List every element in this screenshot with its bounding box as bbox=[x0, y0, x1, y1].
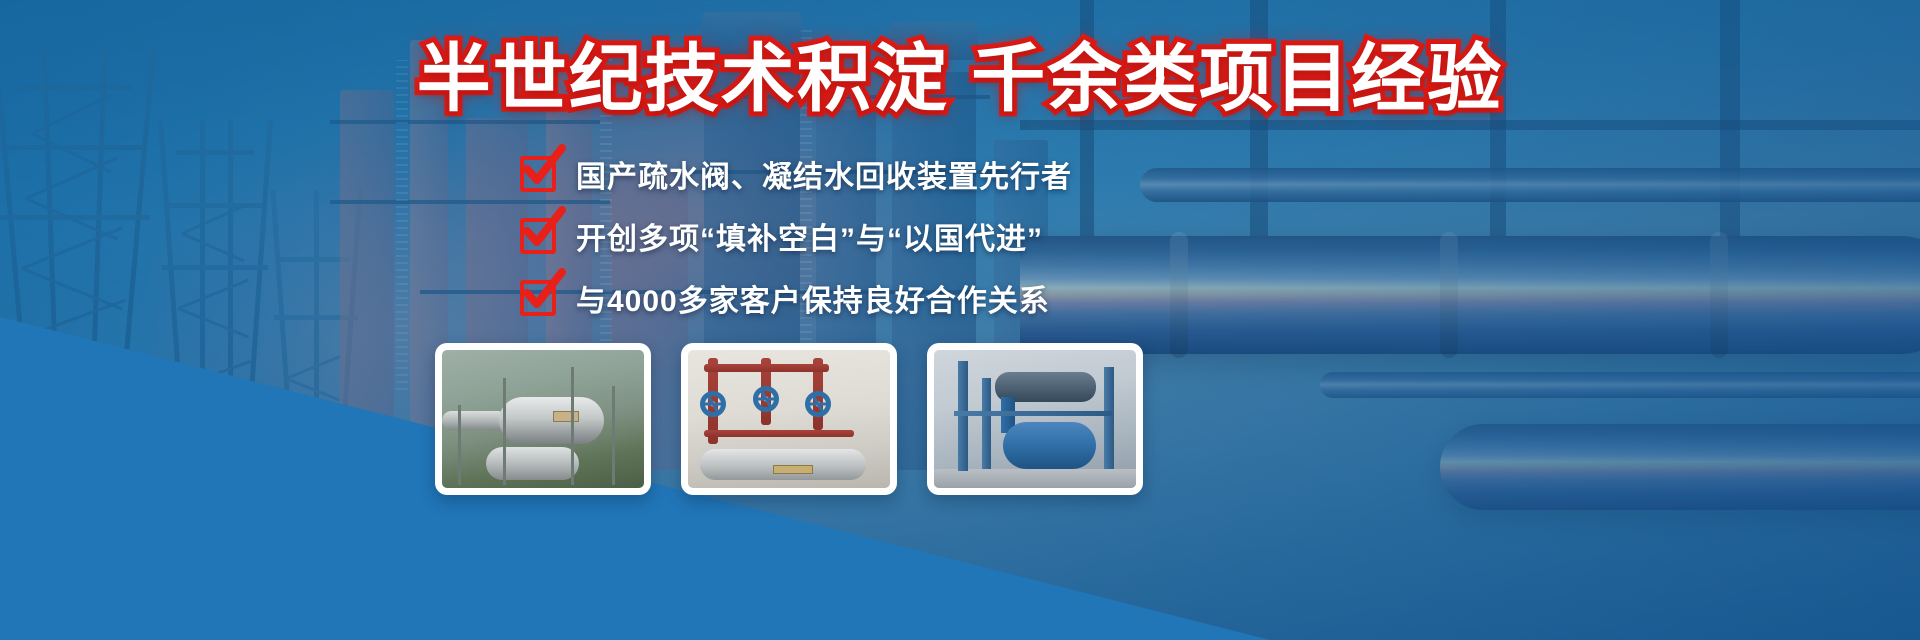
product-photo-3 bbox=[934, 350, 1136, 488]
checkbox-checked-icon bbox=[520, 218, 556, 254]
list-item-label: 开创多项“填补空白”与“以国代进” bbox=[576, 214, 1043, 258]
checkbox-checked-icon bbox=[520, 156, 556, 192]
product-photo-1 bbox=[442, 350, 644, 488]
product-photo-card[interactable] bbox=[927, 343, 1143, 495]
list-item: 与4000多家客户保持良好合作关系 bbox=[520, 274, 1072, 322]
product-photo-2 bbox=[688, 350, 890, 488]
product-photo-card[interactable] bbox=[681, 343, 897, 495]
list-item: 开创多项“填补空白”与“以国代进” bbox=[520, 212, 1072, 260]
checkbox-checked-icon bbox=[520, 280, 556, 316]
list-item-label: 国产疏水阀、凝结水回收装置先行者 bbox=[576, 152, 1072, 196]
list-item: 国产疏水阀、凝结水回收装置先行者 bbox=[520, 150, 1072, 198]
list-item-label: 与4000多家客户保持良好合作关系 bbox=[576, 276, 1050, 320]
product-photo-card[interactable] bbox=[435, 343, 651, 495]
page-title: 半世纪技术积淀 千余类项目经验 bbox=[0, 38, 1920, 119]
promo-banner: 半世纪技术积淀 千余类项目经验 国产疏水阀、凝结水回收装置先行者 开创多项“填补… bbox=[0, 0, 1920, 640]
feature-list: 国产疏水阀、凝结水回收装置先行者 开创多项“填补空白”与“以国代进” 与4000… bbox=[520, 150, 1072, 322]
product-photo-gallery bbox=[435, 343, 1143, 495]
